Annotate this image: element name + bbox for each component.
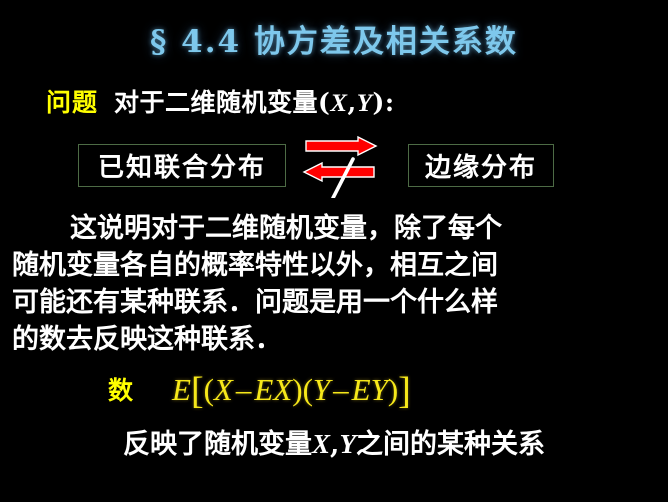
- marginal-distribution-box: 边缘分布: [408, 144, 554, 187]
- formula-ey: EY: [352, 372, 388, 407]
- question-var-x: X: [330, 90, 347, 117]
- closing-line: 反映了随机变量X,Y之间的某种关系: [0, 422, 668, 461]
- formula-bracket-open: [: [191, 370, 204, 412]
- arrow-left-icon: [304, 163, 374, 181]
- formula-paren-open-1: (: [204, 372, 214, 407]
- body-line-1: 这说明对于二维随机变量，除了每个: [12, 210, 656, 247]
- arrow-group: [300, 134, 402, 198]
- formula-paren-close-2: ): [388, 372, 398, 407]
- question-text-suffix: ):: [373, 88, 395, 117]
- body-paragraph: 这说明对于二维随机变量，除了每个 随机变量各自的概率特性以外，相互之间 可能还有…: [12, 210, 656, 358]
- formula-paren-close-1: ): [292, 372, 302, 407]
- question-text: 对于二维随机变量(X,Y):: [114, 83, 395, 119]
- formula-var-x: X: [214, 372, 233, 407]
- joint-distribution-box: 已知联合分布: [78, 144, 286, 187]
- slide-canvas: § 4.4 协方差及相关系数 问题 对于二维随机变量(X,Y): 已知联合分布 …: [0, 0, 668, 502]
- arrows-svg: [300, 134, 402, 198]
- formula-minus-1: –: [233, 372, 255, 407]
- formula-row: 数 E[(X–EX)(Y–EY)]: [0, 368, 668, 410]
- formula-var-y: Y: [313, 372, 330, 407]
- formula-bracket-close: ]: [398, 370, 411, 412]
- closing-var-x: X: [312, 429, 330, 459]
- body-line-4: 的数去反映这种联系．: [12, 321, 656, 358]
- formula-ex: EX: [254, 372, 292, 407]
- closing-suffix: 之间的某种关系: [356, 429, 545, 460]
- formula-paren-open-2: (: [303, 372, 313, 407]
- strikethrough-slash-icon: [333, 159, 353, 198]
- formula-E: E: [172, 372, 191, 407]
- body-line-2: 随机变量各自的概率特性以外，相互之间: [12, 247, 656, 284]
- question-line: 问题 对于二维随机变量(X,Y):: [46, 83, 395, 119]
- page-title: § 4.4 协方差及相关系数: [0, 16, 668, 61]
- question-text-prefix: 对于二维随机变量(: [114, 88, 330, 117]
- closing-var-y: Y: [339, 429, 356, 459]
- closing-prefix: 反映了随机变量: [123, 429, 312, 460]
- joint-distribution-label: 已知联合分布: [98, 147, 266, 184]
- formula-label: 数: [108, 371, 133, 407]
- arrow-right-icon: [306, 137, 376, 155]
- body-line-3: 可能还有某种联系．问题是用一个什么样: [12, 284, 656, 321]
- question-label: 问题: [46, 83, 98, 119]
- covariance-formula: E[(X–EX)(Y–EY)]: [172, 366, 411, 410]
- marginal-distribution-label: 边缘分布: [425, 147, 537, 184]
- formula-minus-2: –: [330, 372, 352, 407]
- question-comma: ,: [348, 88, 357, 117]
- question-var-y: Y: [357, 90, 373, 117]
